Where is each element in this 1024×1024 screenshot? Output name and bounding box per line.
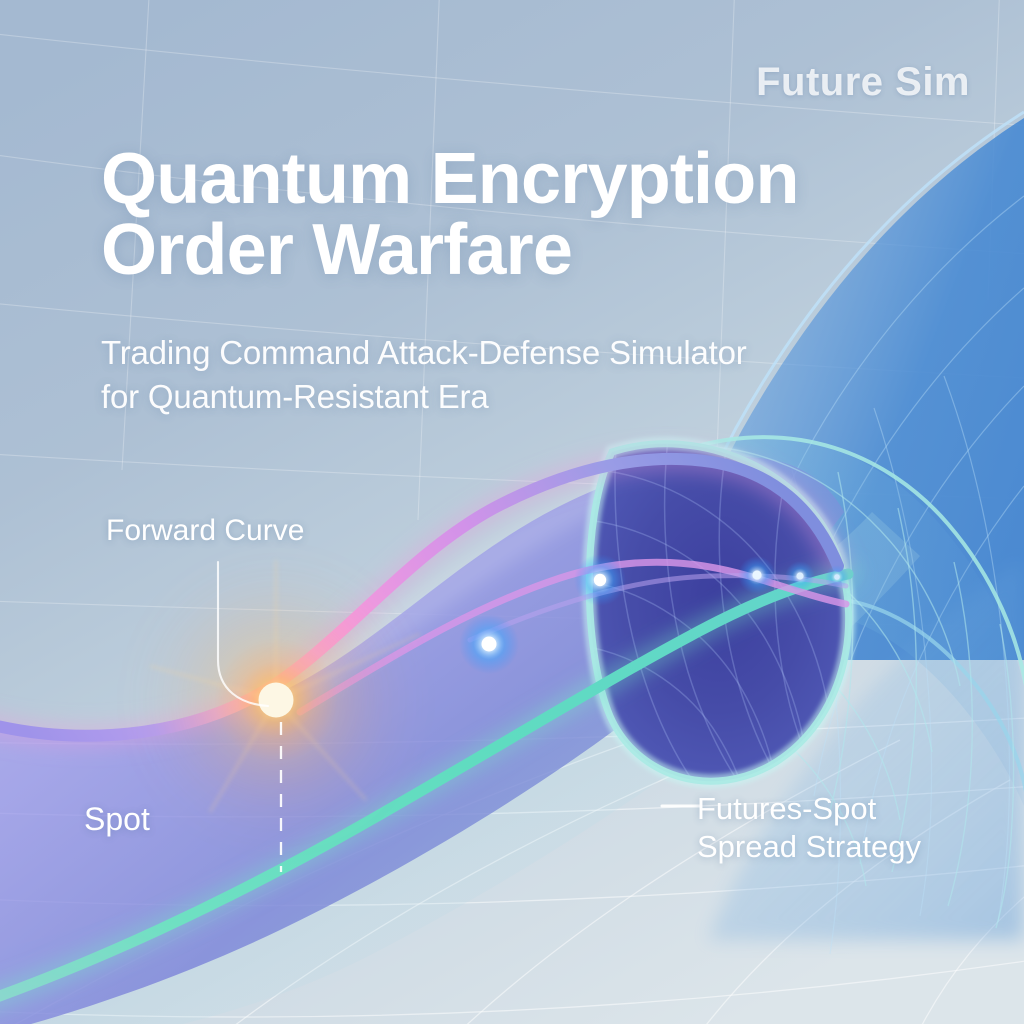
data-point-5 [834,574,840,580]
page-subtitle-line-2: for Quantum-Resistant Era [101,375,747,419]
data-point-1 [482,637,497,652]
poster-canvas: Future Sim Quantum Encryption Order Warf… [0,0,1024,1024]
spot-node-core [259,683,294,718]
page-title: Quantum Encryption Order Warfare [101,144,799,287]
data-point-3 [752,570,761,579]
page-title-line-1: Quantum Encryption [101,139,799,219]
brand-wordmark: Future Sim [756,62,970,102]
data-point-4 [796,572,803,579]
annotation-forward-curve: Forward Curve [106,513,304,550]
page-subtitle: Trading Command Attack-Defense Simulator… [101,331,747,419]
annotation-spread-line-1: Futures-Spot [697,791,876,826]
annotation-spread-strategy: Futures-Spot Spread Strategy [697,790,921,866]
data-point-2 [594,574,606,586]
annotation-spot: Spot [84,800,150,839]
page-subtitle-line-1: Trading Command Attack-Defense Simulator [101,334,747,371]
page-title-line-2: Order Warfare [101,215,799,286]
annotation-spread-line-2: Spread Strategy [697,828,921,866]
